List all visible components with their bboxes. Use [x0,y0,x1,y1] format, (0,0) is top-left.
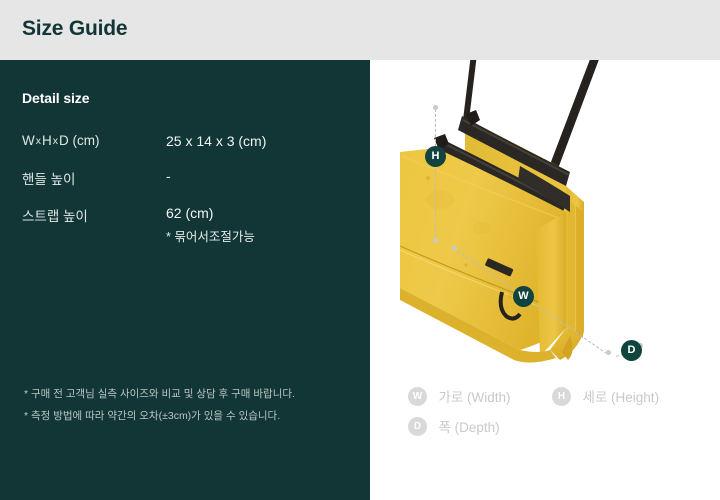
height-guide-line [435,109,436,241]
spec-value-handle-height: - [166,168,171,184]
legend-badge-height: H [552,387,571,406]
legend-badge-depth: D [408,417,427,436]
spec-value-dimensions: 25 x 14 x 3 (cm) [166,133,266,149]
legend-label-height: 세로 (Height) [582,386,659,406]
detail-size-panel: Detail size WxHxD (cm) 25 x 14 x 3 (cm) … [0,60,370,500]
size-guide-page: Size Guide Detail size WxHxD (cm) 25 x 1… [0,0,720,500]
height-badge: H [425,146,446,167]
depth-badge: D [621,340,642,361]
spec-note-strap-height: * 묶어서조절가능 [166,226,255,245]
width-badge: W [513,286,534,307]
width-guide-dot-end [606,350,611,355]
spec-label-strap-height: 스트랩 높이 [22,205,162,225]
detail-size-heading: Detail size [22,90,89,106]
footnote: * 측정 방법에 따라 약간의 오차(±3cm)가 있을 수 있습니다. [24,408,280,423]
height-guide-dot-top [433,105,438,110]
height-guide-dot-bottom [433,238,438,243]
legend-label-depth: 폭 (Depth) [438,416,499,436]
legend-item-height: H 세로 (Height) [552,386,659,406]
legend-item-depth: D 폭 (Depth) [408,416,500,436]
page-header: Size Guide [0,0,720,60]
spec-label-dimensions: WxHxD (cm) [22,133,162,148]
page-title: Size Guide [22,17,127,41]
width-guide-dot-start [452,246,457,251]
legend-item-width: W 가로 (Width) [408,386,511,406]
legend-label-width: 가로 (Width) [438,386,510,406]
spec-value-strap-height: 62 (cm) [166,205,213,221]
spec-label-handle-height: 핸들 높이 [22,168,162,188]
footnote: * 구매 전 고객님 실측 사이즈와 비교 및 상담 후 구매 바랍니다. [24,386,295,401]
legend-badge-width: W [408,387,427,406]
